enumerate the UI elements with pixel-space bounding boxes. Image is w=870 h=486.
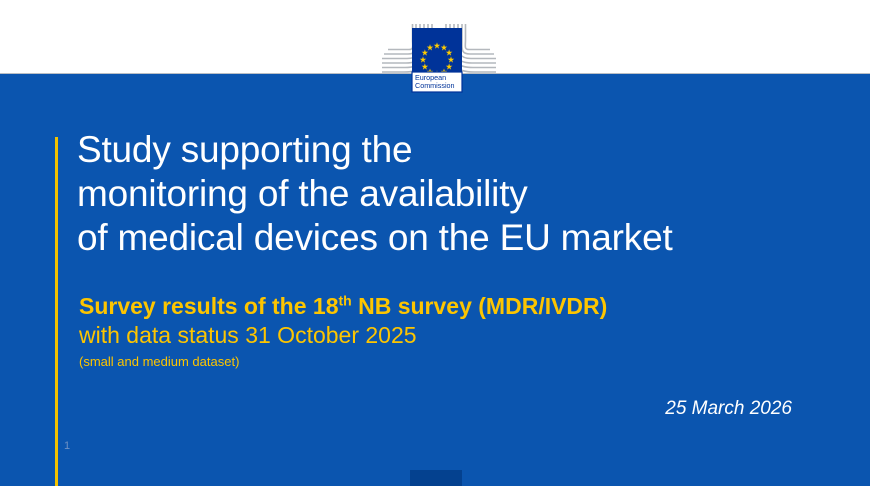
subtitle-block: Survey results of the 18th NB survey (MD… <box>79 292 819 372</box>
subtitle-dataset-note: (small and medium dataset) <box>79 352 819 372</box>
european-commission-logo: European Commission <box>374 6 504 96</box>
subtitle-main-prefix: Survey results of the 18 <box>79 293 339 319</box>
subtitle-ordinal-suffix: th <box>339 292 352 308</box>
logo-wordmark: European Commission <box>412 72 462 92</box>
title-line-2: monitoring of the availability <box>77 172 817 216</box>
subtitle-data-status: with data status 31 October 2025 <box>79 320 819 350</box>
title-line-3: of medical devices on the EU market <box>77 216 817 260</box>
bottom-accent-plate <box>410 470 462 486</box>
subtitle-survey-line: Survey results of the 18th NB survey (MD… <box>79 292 819 320</box>
page-number: 1 <box>64 440 70 452</box>
presentation-date: 25 March 2026 <box>665 398 792 420</box>
page-title: Study supporting the monitoring of the a… <box>77 128 817 260</box>
accent-rule <box>55 137 58 486</box>
title-line-1: Study supporting the <box>77 128 817 172</box>
logo-wordmark-line2: Commission <box>415 81 455 90</box>
eu-flag-icon <box>412 28 462 77</box>
presentation-slide: European Commission Study supporting the… <box>0 0 870 486</box>
subtitle-main-suffix: NB survey (MDR/IVDR) <box>352 293 608 319</box>
